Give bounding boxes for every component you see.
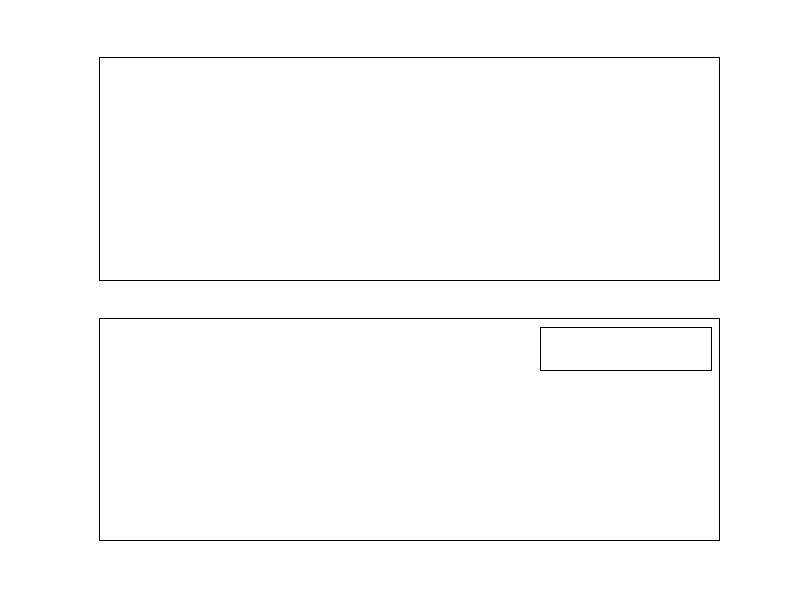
mag-limit-legend-swatch [549, 342, 595, 356]
legend[interactable] [540, 327, 712, 371]
top-axes-frame [100, 58, 720, 281]
top-panel [0, 0, 800, 300]
figure-canvas [0, 0, 800, 600]
top-panel-plot [0, 0, 800, 300]
bottom-panel [0, 300, 800, 600]
